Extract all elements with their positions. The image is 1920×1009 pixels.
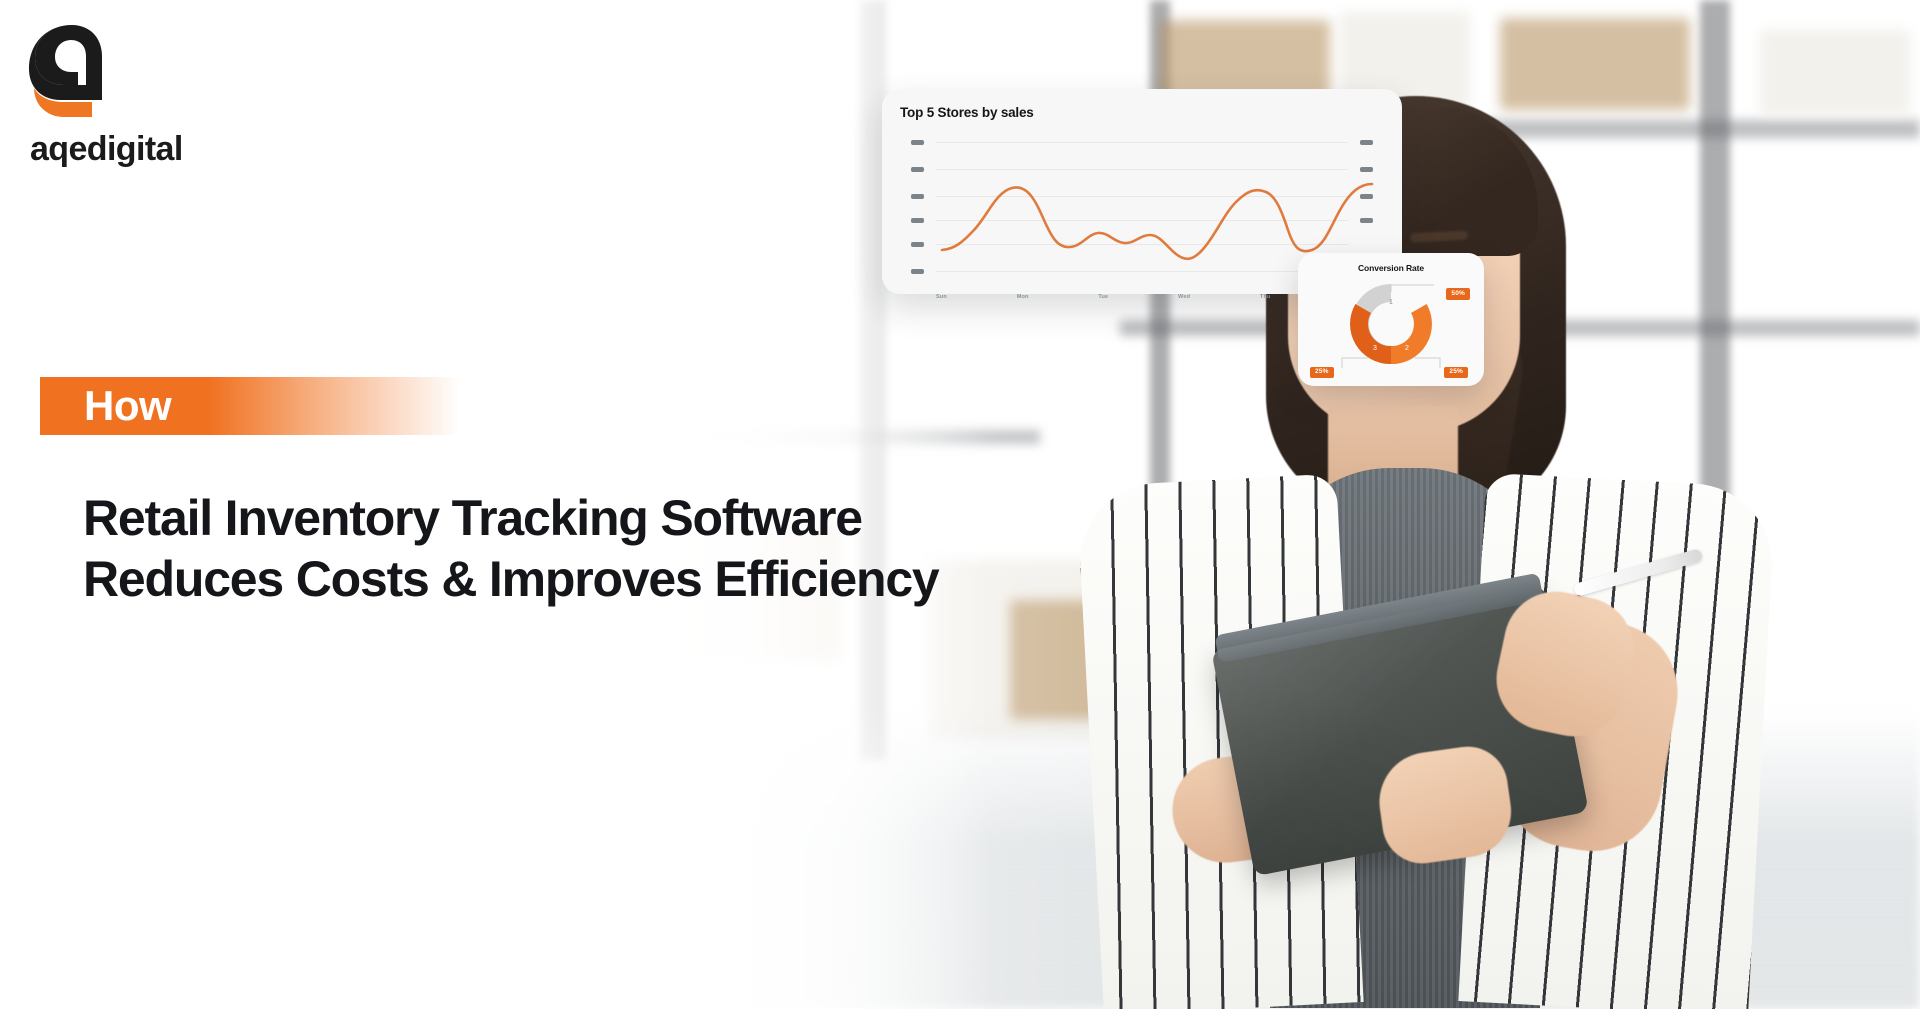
- y-axis-tick: [911, 140, 924, 145]
- x-label: Mon: [1017, 294, 1029, 300]
- headline-line-2: Reduces Costs & Improves Efficiency: [83, 549, 1083, 610]
- x-label: Sun: [936, 294, 947, 300]
- eyebrow-label: How: [84, 385, 171, 427]
- y-axis-tick: [911, 167, 924, 172]
- y-axis-tick: [911, 194, 924, 199]
- page-title: Retail Inventory Tracking Software Reduc…: [83, 488, 1083, 610]
- x-label: Thu: [1260, 294, 1271, 300]
- conversion-pct-bottom-right: 25%: [1444, 367, 1468, 379]
- donut-title: Conversion Rate: [1308, 263, 1474, 273]
- conversion-pct-bottom-left: 25%: [1310, 367, 1334, 379]
- x-label: Tue: [1098, 294, 1108, 300]
- chart-title: Top 5 Stores by sales: [900, 105, 1384, 120]
- y-axis-tick: [911, 218, 924, 223]
- y-axis-tick: [911, 242, 924, 247]
- y-axis-tick: [911, 269, 924, 274]
- conversion-rate-card: Conversion Rate 1 3 2 50% 25% 25%: [1298, 253, 1484, 386]
- eyebrow-badge: How: [40, 377, 460, 435]
- aqe-spiral-logo-icon: [28, 22, 106, 120]
- x-axis-labels: Sun Mon Tue Wed Thu Fri: [936, 294, 1348, 300]
- donut-plot-area: 1 3 2 50% 25% 25%: [1308, 276, 1474, 380]
- x-label: Wed: [1178, 294, 1190, 300]
- brand-wordmark: aqedigital: [30, 130, 268, 169]
- headline-line-1: Retail Inventory Tracking Software: [83, 488, 1083, 549]
- conversion-pct-top: 50%: [1446, 288, 1470, 300]
- brand-logo[interactable]: aqedigital: [28, 22, 268, 169]
